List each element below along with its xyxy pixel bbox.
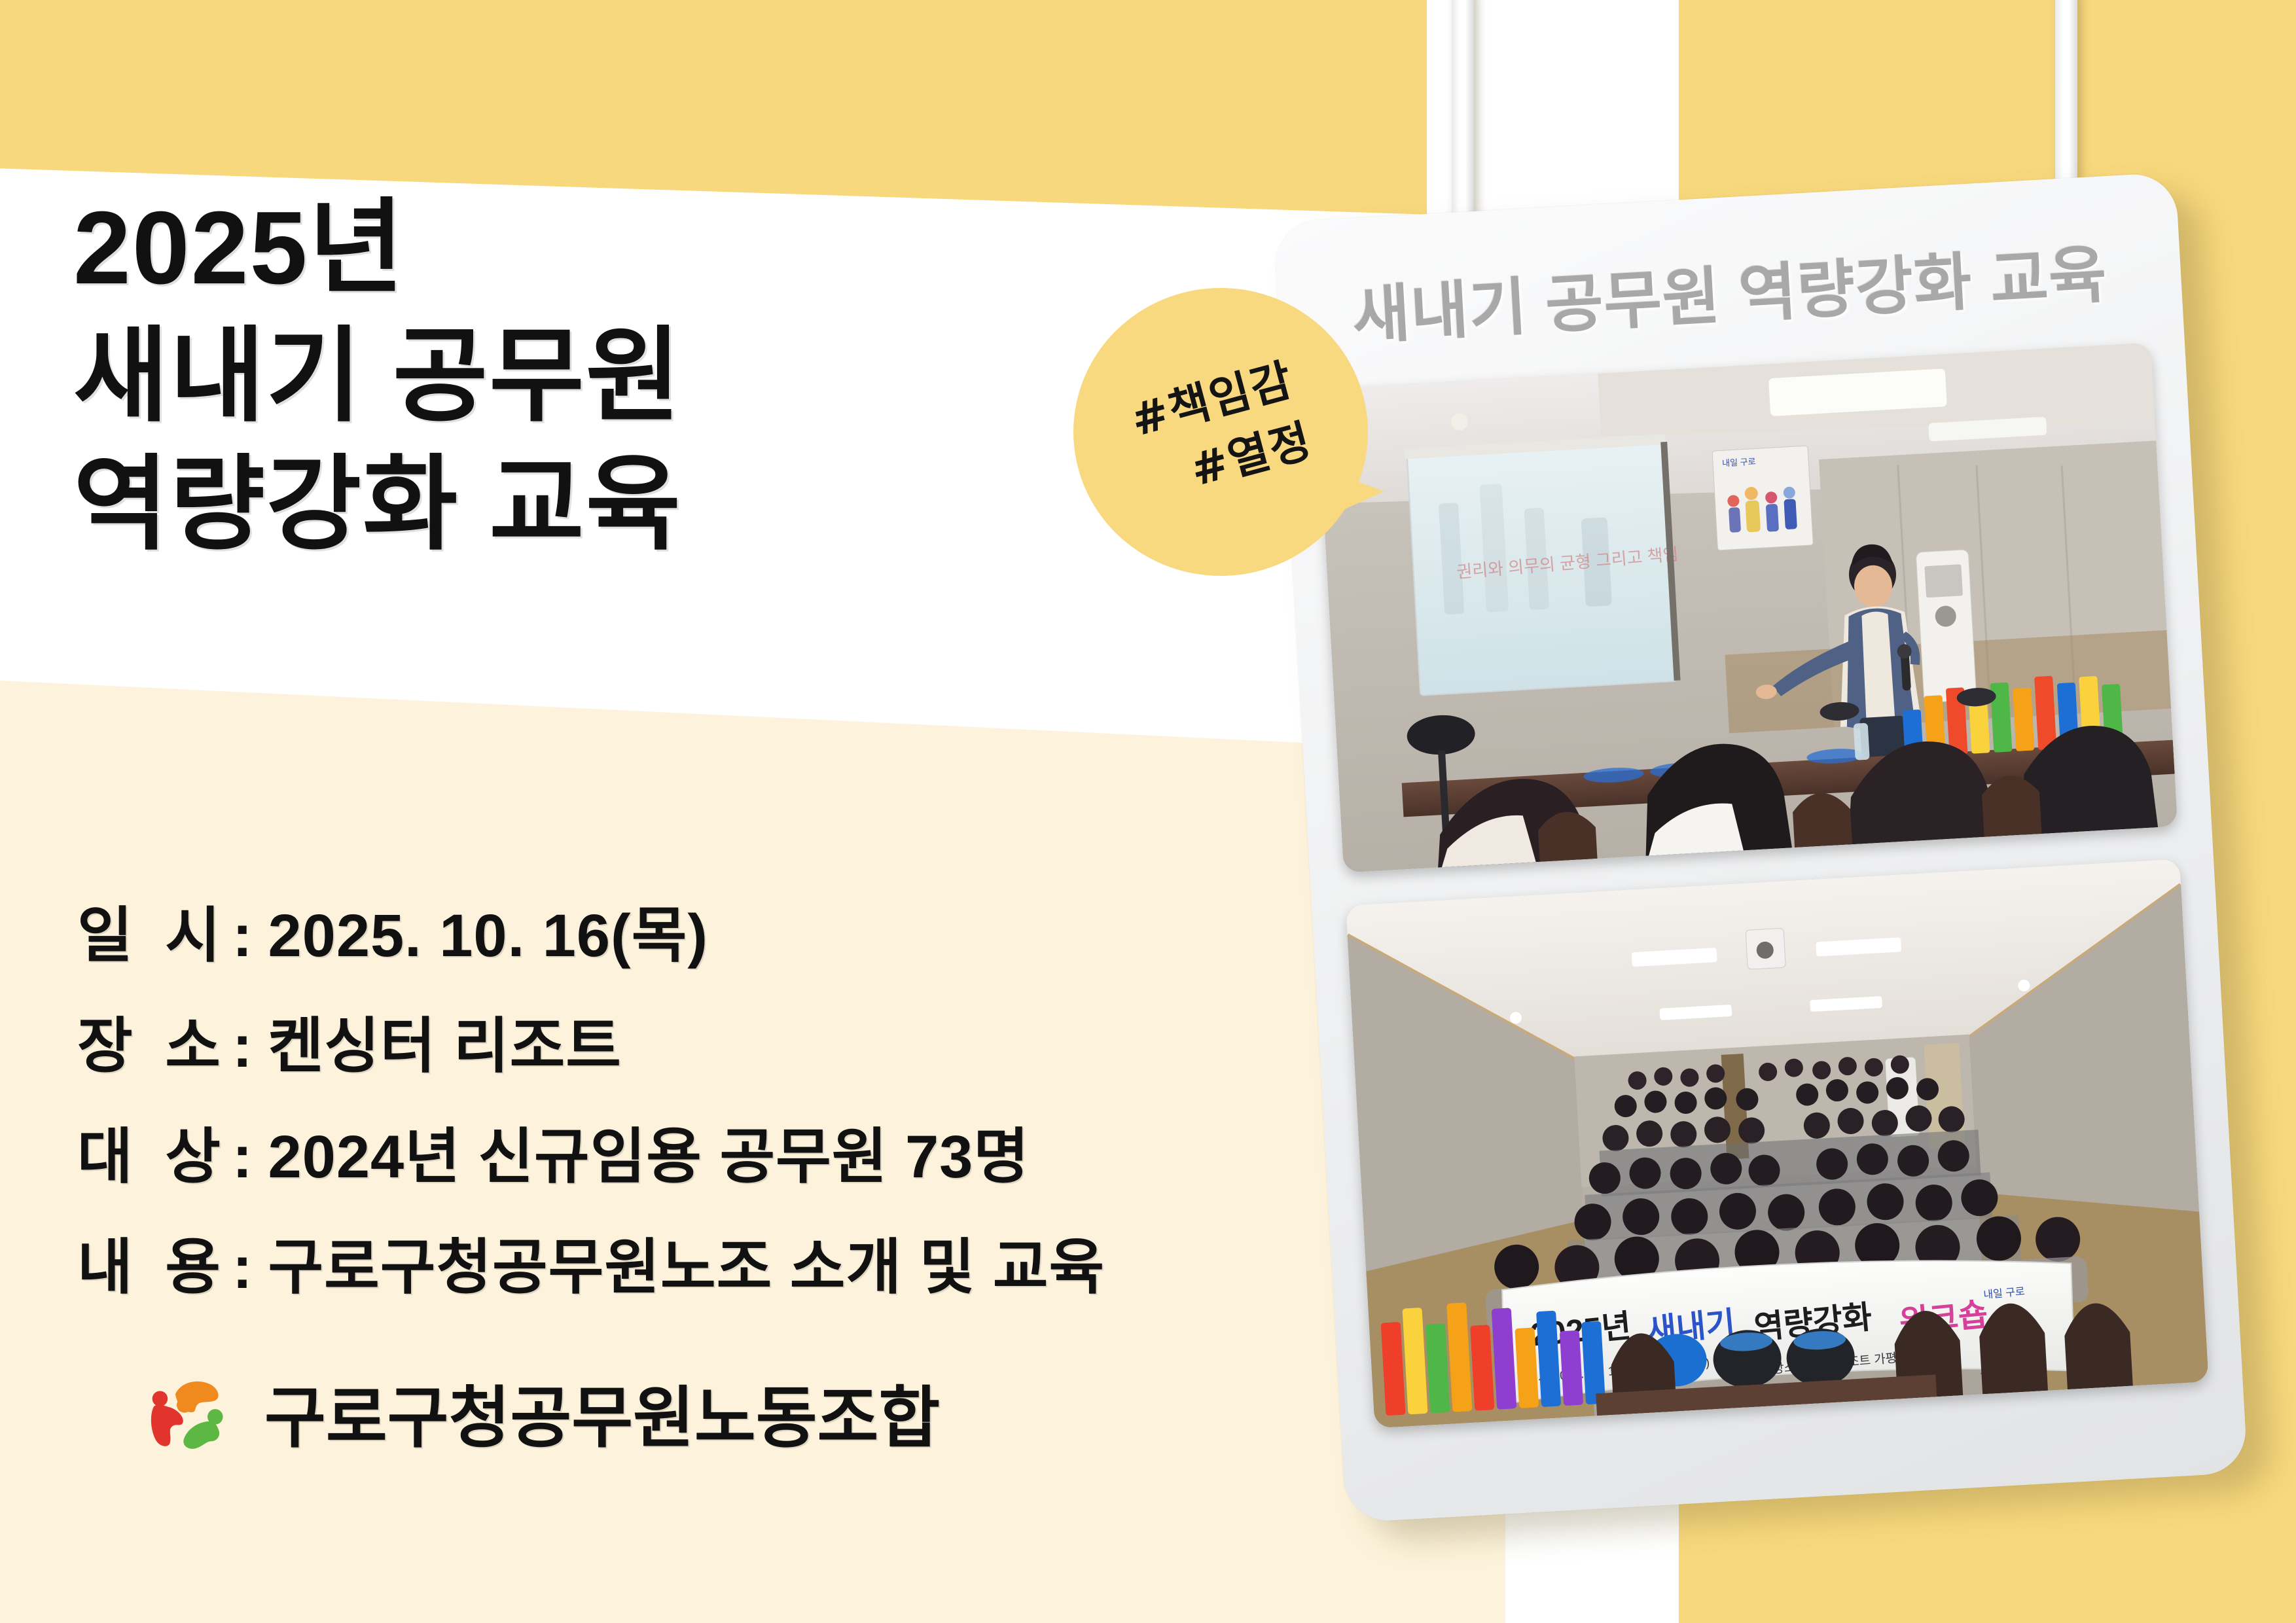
poster-root: 2025년 새내기 공무원 역량강화 교육 일 시 : 2025. 10. 16… <box>0 0 2296 1623</box>
detail-row-date: 일 시 : 2025. 10. 16(목) <box>77 887 1255 974</box>
detail-colon-content: : <box>232 1234 253 1302</box>
organization-name: 구로구청공무원노동조합 <box>264 1364 940 1461</box>
detail-row-place: 장 소 : 켄싱터 리조트 <box>77 997 1255 1084</box>
detail-row-audience: 대 상 : 2024년 신규임용 공무원 73명 <box>77 1108 1255 1195</box>
three-people-circle-logo-icon <box>128 1358 237 1467</box>
svg-text:내일 구로: 내일 구로 <box>1722 457 1756 469</box>
detail-value-place: 켄싱터 리조트 <box>268 997 621 1084</box>
detail-value-content: 구로구청공무원노조 소개 및 교육 <box>268 1219 1105 1306</box>
lecture-photo: 권리와 의무의 균형 그리고 책임 내일 구로 <box>1317 343 2178 873</box>
detail-colon-place: : <box>232 1012 253 1081</box>
group-photo: 2025년 새내기 역량강화 워크숍 일시 2025. 10. 16(목) ~ … <box>1346 859 2209 1428</box>
background-yellow-top-band <box>0 0 1473 216</box>
detail-colon-date: : <box>232 902 253 971</box>
details-list: 일 시 : 2025. 10. 16(목) 장 소 : 켄싱터 리조트 대 상 … <box>77 887 1255 1329</box>
title-line-2: 새내기 공무원 <box>73 313 1094 441</box>
detail-label-place: 장 소 <box>77 997 228 1084</box>
detail-row-content: 내 용 : 구로구청공무원노조 소개 및 교육 <box>77 1219 1255 1306</box>
organization-block: 구로구청공무원노동조합 <box>128 1358 940 1467</box>
detail-value-audience: 2024년 신규임용 공무원 73명 <box>268 1108 1029 1195</box>
detail-value-date: 2025. 10. 16(목) <box>268 887 708 974</box>
detail-label-content: 내 용 <box>77 1219 228 1306</box>
page-title: 2025년 새내기 공무원 역량강화 교육 <box>73 185 1094 569</box>
photo-card: 새내기 공무원 역량강화 교육 <box>1274 172 2248 1523</box>
detail-label-date: 일 시 <box>77 887 228 974</box>
photo-card-header-text: 새내기 공무원 역량강화 교육 <box>1350 240 2109 351</box>
title-line-1: 2025년 <box>73 185 1094 313</box>
detail-colon-audience: : <box>232 1123 253 1192</box>
detail-label-audience: 대 상 <box>77 1108 228 1195</box>
title-line-3: 역량강화 교육 <box>73 441 1094 569</box>
photo-card-header: 새내기 공무원 역량강화 교육 <box>1276 219 2183 361</box>
hashtag-speech-bubble: #책임감 #열정 <box>1073 288 1368 576</box>
